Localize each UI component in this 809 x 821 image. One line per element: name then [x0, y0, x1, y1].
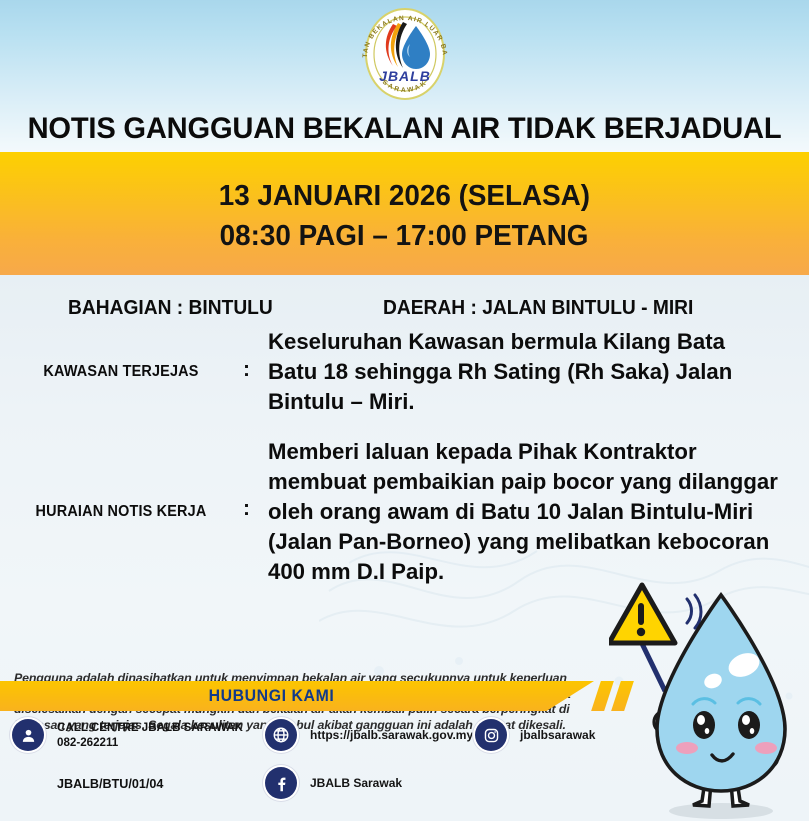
svg-text:JBALB: JBALB — [379, 68, 431, 84]
contact-website[interactable]: https://jbalb.sarawak.gov.my/ — [265, 719, 477, 751]
row-huraian-notis-kerja: HURAIAN NOTIS KERJA : Memberi laluan kep… — [0, 433, 809, 593]
website-url[interactable]: https://jbalb.sarawak.gov.my/ — [310, 728, 477, 743]
date-time-banner: 13 JANUARI 2026 (SELASA) 08:30 PAGI – 17… — [0, 152, 809, 275]
kawasan-terjejas-value: Keseluruhan Kawasan bermula Kilang Bata … — [268, 327, 780, 417]
bahagian-label: BAHAGIAN : BINTULU — [68, 297, 273, 320]
huraian-separator: : — [243, 497, 250, 521]
call-centre-line1: CALL CENTRE JBALB SARAWAK — [57, 720, 243, 735]
jbalb-logo: JABATAN BEKALAN AIR LUAR BANDAR SARAWAK … — [353, 4, 457, 104]
poster-title-wrap: NOTIS GANGGUAN BEKALAN AIR TIDAK BERJADU… — [0, 112, 809, 146]
kawasan-separator: : — [243, 358, 250, 382]
hubungi-kami-banner: HUBUNGI KAMI — [0, 681, 594, 711]
daerah-label: DAERAH : JALAN BINTULU - MIRI — [383, 297, 693, 320]
notice-time: 08:30 PAGI – 17:00 PETANG — [220, 216, 589, 256]
row-kawasan-terjejas: KAWASAN TERJEJAS : Keseluruhan Kawasan b… — [0, 323, 809, 423]
poster-header: JABATAN BEKALAN AIR LUAR BANDAR SARAWAK … — [0, 0, 809, 152]
huraian-notis-kerja-label: HURAIAN NOTIS KERJA — [18, 503, 224, 521]
instagram-icon — [475, 719, 507, 751]
poster-body: BAHAGIAN : BINTULU DAERAH : JALAN BINTUL… — [0, 275, 809, 821]
page-title: NOTIS GANGGUAN BEKALAN AIR TIDAK BERJADU… — [12, 112, 797, 146]
kawasan-terjejas-label: KAWASAN TERJEJAS — [18, 363, 224, 381]
reference-number: JBALB/BTU/01/04 — [57, 777, 163, 791]
facebook-page[interactable]: JBALB Sarawak — [310, 776, 402, 791]
call-centre-phone: 082-262211 — [57, 735, 243, 750]
notice-date: 13 JANUARI 2026 (SELASA) — [219, 176, 590, 216]
hubungi-kami-label: HUBUNGI KAMI — [208, 687, 334, 706]
banner-stripe-2 — [611, 681, 634, 711]
globe-icon — [265, 719, 297, 751]
poster-footer: HUBUNGI KAMI CALL CENTRE JBALB SARAWAK 0… — [0, 681, 809, 821]
huraian-notis-kerja-value: Memberi laluan kepada Pihak Kontraktor m… — [268, 437, 780, 587]
contact-instagram[interactable]: jbalbsarawak — [475, 719, 595, 751]
person-icon — [12, 719, 44, 751]
facebook-icon — [265, 767, 297, 799]
notice-poster: JABATAN BEKALAN AIR LUAR BANDAR SARAWAK … — [0, 0, 809, 821]
contact-list: CALL CENTRE JBALB SARAWAK 082-262211 JBA… — [0, 715, 809, 819]
contact-call-centre[interactable]: CALL CENTRE JBALB SARAWAK 082-262211 — [12, 719, 243, 751]
banner-stripe-1 — [591, 681, 614, 711]
contact-facebook[interactable]: JBALB Sarawak — [265, 767, 402, 799]
instagram-handle[interactable]: jbalbsarawak — [520, 728, 595, 743]
